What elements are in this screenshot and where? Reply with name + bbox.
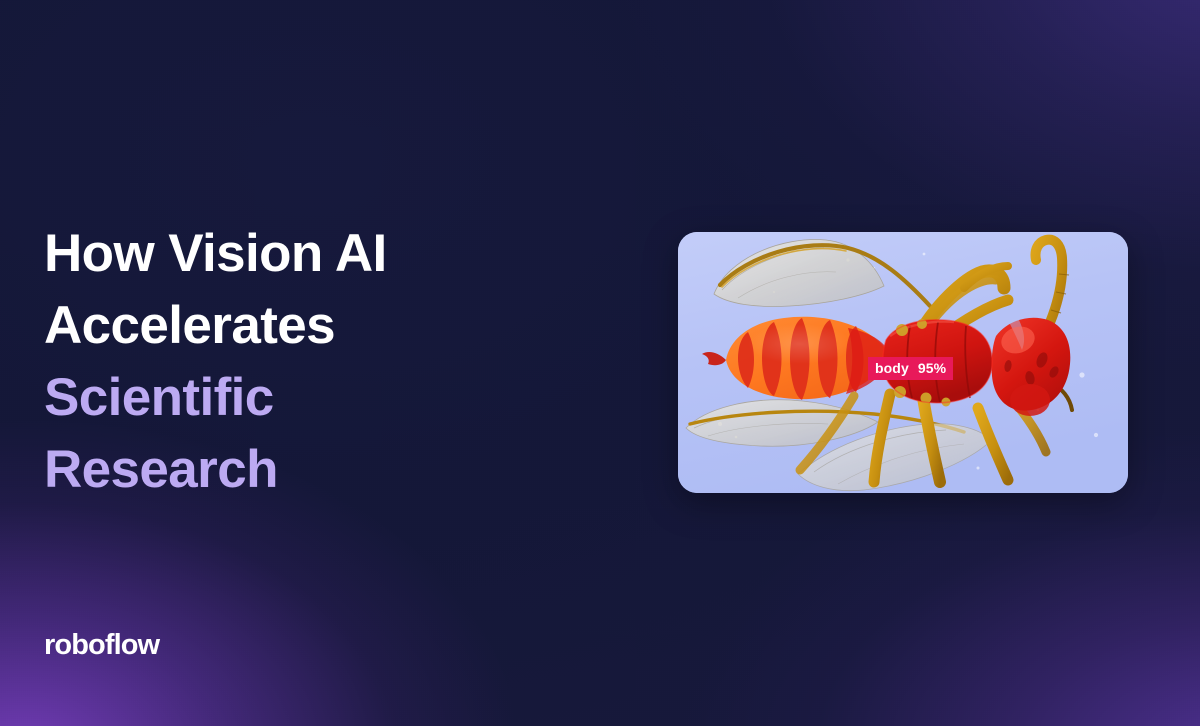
page-title: How Vision AI Accelerates Scientific Res… (44, 218, 604, 506)
detection-label: body 95% (868, 357, 953, 380)
detection-confidence: 95% (918, 361, 946, 375)
headline-line-1: How Vision AI (44, 218, 604, 290)
headline-line-4: Research (44, 434, 604, 506)
detection-class-label: body (875, 361, 909, 375)
slide-canvas: How Vision AI Accelerates Scientific Res… (0, 0, 1200, 726)
headline-line-2: Accelerates (44, 290, 604, 362)
media-card[interactable]: body 95% (678, 232, 1128, 493)
headline-line-3: Scientific (44, 362, 604, 434)
roboflow-logo[interactable]: roboflow (44, 629, 159, 662)
